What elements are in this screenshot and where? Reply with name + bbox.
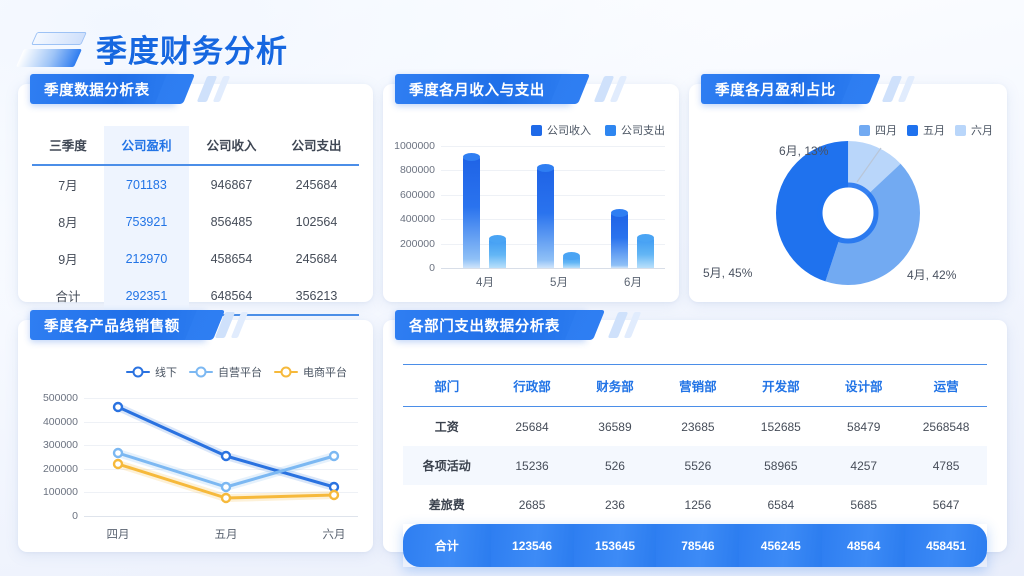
title-decoration-icon xyxy=(16,30,88,74)
cell-expense: 102564 xyxy=(274,203,359,240)
bar-revenue-may xyxy=(537,168,554,268)
legend-label-june: 六月 xyxy=(971,122,993,138)
cell-revenue: 946867 xyxy=(189,165,274,203)
x-tick-apr: 4月 xyxy=(476,274,494,290)
table-row: 各项活动 15236 526 5526 58965 4257 4785 xyxy=(403,446,987,485)
table-row: 9月 212970 458654 245684 xyxy=(32,240,359,277)
bar-chart-plot: 0 200000 400000 600000 800000 1000000 xyxy=(383,84,679,302)
cell-value: 25684 xyxy=(491,407,574,446)
table-row: 工资 25684 36589 23685 152685 58479 256854… xyxy=(403,407,987,446)
bar-series-container xyxy=(441,146,665,268)
cell-month: 9月 xyxy=(32,240,104,277)
x-tick-jun: 6月 xyxy=(624,274,642,290)
cell-value: 236 xyxy=(574,485,657,524)
cell-category: 各项活动 xyxy=(403,446,491,485)
x-tick-june: 六月 xyxy=(323,526,346,542)
col-header-0: 部门 xyxy=(403,364,491,407)
col-header-2: 财务部 xyxy=(574,364,657,407)
col-header-3: 营销部 xyxy=(656,364,739,407)
bar-revenue-apr xyxy=(463,157,480,268)
cell-category: 工资 xyxy=(403,407,491,446)
col-header-0: 三季度 xyxy=(32,126,104,165)
col-header-1: 公司盈利 xyxy=(104,126,189,165)
y-tick-5: 1000000 xyxy=(383,140,435,152)
legend-label-april: 四月 xyxy=(875,122,897,138)
table-row: 8月 753921 856485 102564 xyxy=(32,203,359,240)
y-tick-0: 0 xyxy=(383,262,435,274)
cell-value: 58479 xyxy=(822,407,905,446)
cell-profit: 701183 xyxy=(104,165,189,203)
y-tick-1: 200000 xyxy=(383,238,435,250)
cell-expense: 356213 xyxy=(274,277,359,315)
cell-value: 6584 xyxy=(739,485,822,524)
x-tick-may: 5月 xyxy=(550,274,568,290)
cell-revenue: 458654 xyxy=(189,240,274,277)
donut-leader-line xyxy=(839,146,883,188)
col-header-4: 开发部 xyxy=(739,364,822,407)
legend-label-may: 五月 xyxy=(923,122,945,138)
col-header-5: 设计部 xyxy=(822,364,905,407)
cell-profit: 212970 xyxy=(104,240,189,277)
card-quarter-table-header: 季度数据分析表 xyxy=(30,74,176,104)
card-bar-chart: 季度各月收入与支出 公司收入 公司支出 0 200000 400000 6000… xyxy=(383,84,679,302)
card-donut-chart-header: 季度各月盈利占比 xyxy=(701,74,862,104)
cell-value: 58965 xyxy=(739,446,822,485)
line-chart-series xyxy=(18,320,373,552)
cell-value: 4257 xyxy=(822,446,905,485)
table-row-total: 合计 123546 153645 78546 456245 48564 4584… xyxy=(403,524,987,567)
cell-value: 152685 xyxy=(739,407,822,446)
cell-value: 2685 xyxy=(491,485,574,524)
col-header-2: 公司收入 xyxy=(189,126,274,165)
page-header: 季度财务分析 xyxy=(0,26,1024,80)
cell-value: 5647 xyxy=(905,485,987,524)
x-tick-april: 四月 xyxy=(107,526,130,542)
cell-value: 5685 xyxy=(822,485,905,524)
cell-month: 8月 xyxy=(32,203,104,240)
legend-item-may: 五月 xyxy=(907,122,945,138)
card-dept-table-title: 各部门支出数据分析表 xyxy=(395,310,586,340)
dept-expense-table: 部门 行政部 财务部 营销部 开发部 设计部 运营 工资 25684 36589… xyxy=(403,364,987,567)
donut-label-june: 6月, 13% xyxy=(779,142,828,159)
card-dept-table-header: 各部门支出数据分析表 xyxy=(395,310,586,340)
donut-label-april: 4月, 42% xyxy=(907,266,956,283)
legend-item-june: 六月 xyxy=(955,122,993,138)
bar-expense-jun xyxy=(637,238,654,268)
cell-expense: 245684 xyxy=(274,240,359,277)
card-donut-chart: 季度各月盈利占比 四月 五月 六月 6月, 13% 5月, 45% xyxy=(689,84,1007,302)
cell-value: 1256 xyxy=(656,485,739,524)
cell-month: 7月 xyxy=(32,165,104,203)
legend-item-april: 四月 xyxy=(859,122,897,138)
cell-value: 4785 xyxy=(905,446,987,485)
quarter-analysis-table: 三季度 公司盈利 公司收入 公司支出 7月 701183 946867 2456… xyxy=(32,126,359,316)
cell-revenue: 856485 xyxy=(189,203,274,240)
card-line-chart: 季度各产品线销售额 线下 自营平台 电商平台 0 100000 200000 3… xyxy=(18,320,373,552)
table-row: 差旅费 2685 236 1256 6584 5685 5647 xyxy=(403,485,987,524)
col-header-3: 公司支出 xyxy=(274,126,359,165)
cell-value: 123546 xyxy=(491,524,574,567)
card-quarter-table: 季度数据分析表 三季度 公司盈利 公司收入 公司支出 7月 701183 946… xyxy=(18,84,373,302)
cell-value: 5526 xyxy=(656,446,739,485)
cell-value: 36589 xyxy=(574,407,657,446)
cell-value: 2568548 xyxy=(905,407,987,446)
x-tick-may: 五月 xyxy=(215,526,238,542)
line-chart-plot: 0 100000 200000 300000 400000 500000 xyxy=(18,320,373,552)
bar-revenue-jun xyxy=(611,213,628,268)
table-header-row: 三季度 公司盈利 公司收入 公司支出 xyxy=(32,126,359,165)
y-tick-2: 400000 xyxy=(383,213,435,225)
donut-hole xyxy=(823,188,874,239)
cell-expense: 245684 xyxy=(274,165,359,203)
card-dept-table: 各部门支出数据分析表 部门 行政部 财务部 营销部 开发部 设计部 运营 工资 … xyxy=(383,320,1007,552)
table-header-row: 部门 行政部 财务部 营销部 开发部 设计部 运营 xyxy=(403,364,987,407)
cell-value: 15236 xyxy=(491,446,574,485)
legend-swatch-april xyxy=(859,125,870,136)
legend-swatch-june xyxy=(955,125,966,136)
page-title: 季度财务分析 xyxy=(96,26,288,71)
legend-swatch-may xyxy=(907,125,918,136)
table-row: 7月 701183 946867 245684 xyxy=(32,165,359,203)
col-header-1: 行政部 xyxy=(491,364,574,407)
cell-value: 48564 xyxy=(822,524,905,567)
donut-label-may: 5月, 45% xyxy=(703,264,752,281)
cell-category: 差旅费 xyxy=(403,485,491,524)
cell-value: 78546 xyxy=(656,524,739,567)
y-tick-3: 600000 xyxy=(383,189,435,201)
cell-value: 23685 xyxy=(656,407,739,446)
cell-profit: 753921 xyxy=(104,203,189,240)
card-donut-chart-title: 季度各月盈利占比 xyxy=(701,74,862,104)
card-quarter-table-title: 季度数据分析表 xyxy=(30,74,176,104)
col-header-6: 运营 xyxy=(905,364,987,407)
y-tick-4: 800000 xyxy=(383,164,435,176)
cell-value: 456245 xyxy=(739,524,822,567)
donut-legend: 四月 五月 六月 xyxy=(859,122,993,138)
bar-expense-apr xyxy=(489,239,506,268)
cell-value: 458451 xyxy=(905,524,987,567)
cell-value: 153645 xyxy=(574,524,657,567)
cell-value: 526 xyxy=(574,446,657,485)
cell-category: 合计 xyxy=(403,524,491,567)
bar-expense-may xyxy=(563,256,580,268)
